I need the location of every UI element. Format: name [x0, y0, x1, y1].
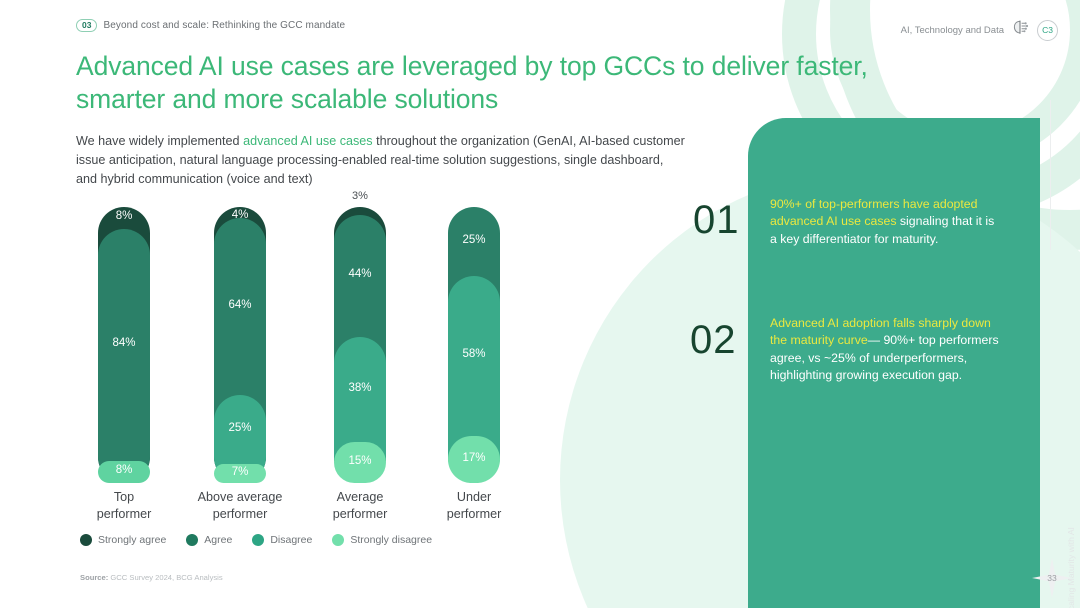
- bar-top-label: 3%: [334, 190, 386, 202]
- bar-column: 25%58%17%Underperformer: [448, 193, 500, 483]
- bar-segment-label: 44%: [334, 268, 386, 280]
- callout-number-02: 02: [690, 320, 737, 360]
- callout-02: Advanced AI adoption falls sharply down …: [770, 315, 1000, 385]
- callout-01: 90%+ of top-performers have adopted adva…: [770, 196, 1000, 248]
- bar-category-label: Averageperformer: [316, 489, 404, 522]
- bar-category-label: Topperformer: [80, 489, 168, 522]
- category-line-1: Under: [457, 490, 491, 504]
- legend-label: Strongly disagree: [350, 534, 432, 546]
- bar: 44%38%15%: [334, 207, 386, 483]
- lede-before: We have widely implemented: [76, 134, 243, 148]
- bar-category-label: Above averageperformer: [196, 489, 284, 522]
- category-line-2: performer: [333, 507, 388, 521]
- section-title: Beyond cost and scale: Rethinking the GC…: [103, 20, 345, 31]
- category-line-1: Above average: [198, 490, 283, 504]
- legend-swatch-icon: [186, 534, 198, 546]
- callout-number-01: 01: [693, 200, 740, 240]
- rail-divider: [1050, 100, 1051, 250]
- bar-category-label: Underperformer: [430, 489, 518, 522]
- header-right-group: AI, Technology and Data C3: [901, 19, 1058, 41]
- breadcrumb: 03 Beyond cost and scale: Rethinking the…: [76, 19, 345, 32]
- stacked-bar-chart: 8%84%8%Topperformer4%64%25%7%Above avera…: [76, 193, 546, 483]
- legend-swatch-icon: [332, 534, 344, 546]
- source-note: Source: GCC Survey 2024, BCG Analysis: [80, 573, 223, 582]
- chart-legend: Strongly agreeAgreeDisagreeStrongly disa…: [80, 534, 443, 546]
- legend-item[interactable]: Agree: [186, 534, 232, 546]
- bar-segment: 15%: [334, 442, 386, 483]
- source-prefix: Source:: [80, 573, 108, 582]
- legend-label: Strongly agree: [98, 534, 166, 546]
- legend-item[interactable]: Disagree: [252, 534, 312, 546]
- bar-segment-label: 17%: [448, 452, 500, 464]
- section-number-chip: 03: [76, 19, 97, 32]
- panel-bottom-strip: [748, 590, 756, 608]
- bar-segment: 8%: [98, 461, 150, 483]
- source-text: GCC Survey 2024, BCG Analysis: [108, 573, 222, 582]
- category-line-2: performer: [97, 507, 152, 521]
- legend-swatch-icon: [80, 534, 92, 546]
- bar: 25%58%17%: [448, 207, 500, 483]
- bar-segment-label: 38%: [334, 382, 386, 394]
- category-line-1: Top: [114, 490, 134, 504]
- lede-paragraph: We have widely implemented advanced AI u…: [76, 132, 686, 189]
- bar-column: 3%44%38%15%Averageperformer: [334, 193, 386, 483]
- bar-segment-label: 64%: [214, 299, 266, 311]
- bar-column: 4%64%25%7%Above averageperformer: [214, 193, 266, 483]
- bar-column: 8%84%8%Topperformer: [98, 193, 150, 483]
- category-line-2: performer: [213, 507, 268, 521]
- bar: 4%64%25%7%: [214, 207, 266, 483]
- slide: 03 Beyond cost and scale: Rethinking the…: [0, 0, 1080, 608]
- bar-segment: 84%: [98, 229, 150, 483]
- header-topic-label: AI, Technology and Data: [901, 25, 1004, 36]
- bar-segment: 17%: [448, 436, 500, 483]
- category-line-1: Average: [337, 490, 384, 504]
- c3-badge: C3: [1037, 20, 1058, 41]
- lede-highlight: advanced AI use cases: [243, 134, 373, 148]
- bar-segment-label: 25%: [214, 422, 266, 434]
- legend-item[interactable]: Strongly disagree: [332, 534, 432, 546]
- brain-circuit-icon: [1011, 19, 1030, 41]
- legend-label: Agree: [204, 534, 232, 546]
- legend-swatch-icon: [252, 534, 264, 546]
- legend-item[interactable]: Strongly agree: [80, 534, 166, 546]
- category-line-2: performer: [447, 507, 502, 521]
- bar-segment-label: 7%: [214, 466, 266, 478]
- bar-segment-label: 8%: [98, 210, 150, 222]
- bar-segment-label: 15%: [334, 455, 386, 467]
- bar-segment-label: 8%: [98, 464, 150, 476]
- bar: 8%84%8%: [98, 207, 150, 483]
- bar-segment-label: 84%: [98, 337, 150, 349]
- bar-segment-label: 25%: [448, 234, 500, 246]
- bar-segment: 7%: [214, 464, 266, 483]
- bar-segment-label: 58%: [448, 348, 500, 360]
- page-title: Advanced AI use cases are leveraged by t…: [76, 50, 906, 117]
- page-number: 33: [1047, 573, 1056, 583]
- legend-label: Disagree: [270, 534, 312, 546]
- page-number-badge: 33: [1032, 558, 1072, 598]
